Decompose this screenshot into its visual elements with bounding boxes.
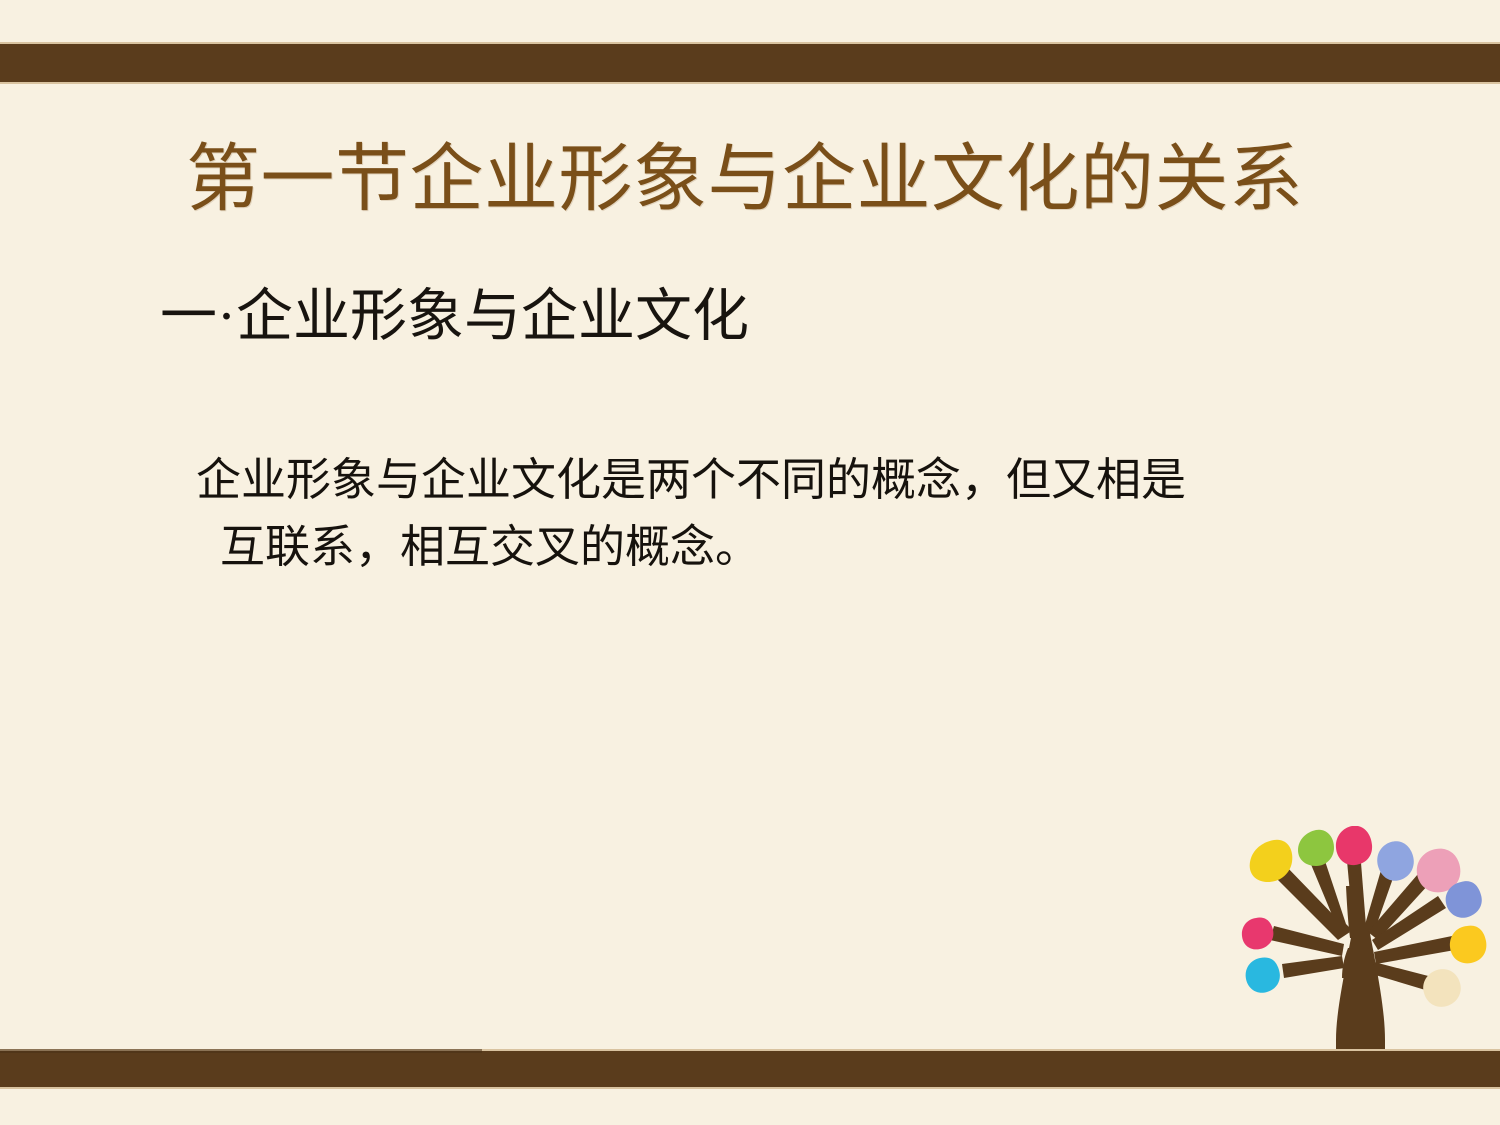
leaf-crimson-left <box>1242 918 1273 950</box>
leaf-cream-right <box>1423 969 1461 1007</box>
leaf-cyan-left <box>1246 958 1280 993</box>
tree-illustration <box>1232 826 1500 1054</box>
leaf-green <box>1298 830 1334 866</box>
bottom-bar-sheen <box>0 1049 482 1053</box>
top-decorative-bar <box>0 42 1500 84</box>
body-paragraph-line-2: 互联系，相互交叉的概念。 <box>196 514 1316 581</box>
leaf-yellow-right <box>1450 926 1486 964</box>
section-subtitle: 一·企业形象与企业文化 <box>160 284 1360 350</box>
page-title: 第一节企业形象与企业文化的关系 <box>186 139 1346 222</box>
body-paragraph-line-1: 企业形象与企业文化是两个不同的概念，但又相是 <box>196 455 1186 505</box>
leaf-crimson-top <box>1336 826 1372 865</box>
bottom-decorative-bar <box>0 1049 1500 1089</box>
slide-canvas: 第一节企业形象与企业文化的关系 一·企业形象与企业文化 企业形象与企业文化是两个… <box>0 0 1500 1125</box>
body-paragraph: 企业形象与企业文化是两个不同的概念，但又相是 互联系，相互交叉的概念。 <box>196 447 1316 580</box>
leaf-blue-top <box>1377 841 1414 881</box>
